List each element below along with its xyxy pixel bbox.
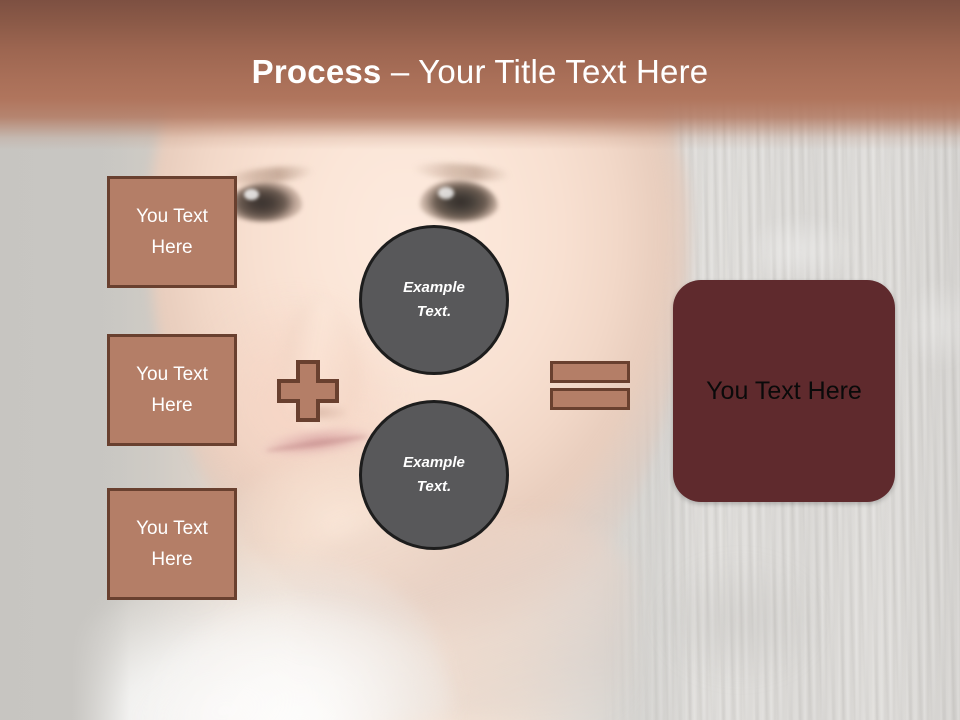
- example-circle-2-line1: Example: [403, 451, 465, 475]
- equals-icon-bar-top: [550, 361, 630, 383]
- wall-shadow-c: [660, 560, 820, 680]
- example-circle-1[interactable]: Example Text.: [359, 225, 509, 375]
- child-eye-left-highlight: [244, 189, 259, 200]
- input-box-3-label: You Text Here: [118, 513, 226, 575]
- input-box-2[interactable]: You Text Here: [107, 334, 237, 446]
- input-box-1[interactable]: You Text Here: [107, 176, 237, 288]
- slide-canvas: Process – Your Title Text Here You Text …: [0, 0, 960, 720]
- input-box-1-label: You Text Here: [118, 201, 226, 263]
- example-circle-1-line1: Example: [403, 276, 465, 300]
- example-circle-2-line2: Text.: [417, 475, 451, 499]
- wall-highlight-a: [740, 215, 860, 285]
- plus-icon: [277, 360, 339, 422]
- input-box-3[interactable]: You Text Here: [107, 488, 237, 600]
- result-box[interactable]: You Text Here: [673, 280, 895, 502]
- equals-icon-bar-bottom: [550, 388, 630, 410]
- example-circle-2[interactable]: Example Text.: [359, 400, 509, 550]
- input-box-2-label: You Text Here: [118, 359, 226, 421]
- child-eye-right-highlight: [438, 187, 454, 199]
- equals-icon: [550, 361, 630, 411]
- result-box-label: You Text Here: [706, 375, 862, 407]
- example-circle-1-line2: Text.: [417, 300, 451, 324]
